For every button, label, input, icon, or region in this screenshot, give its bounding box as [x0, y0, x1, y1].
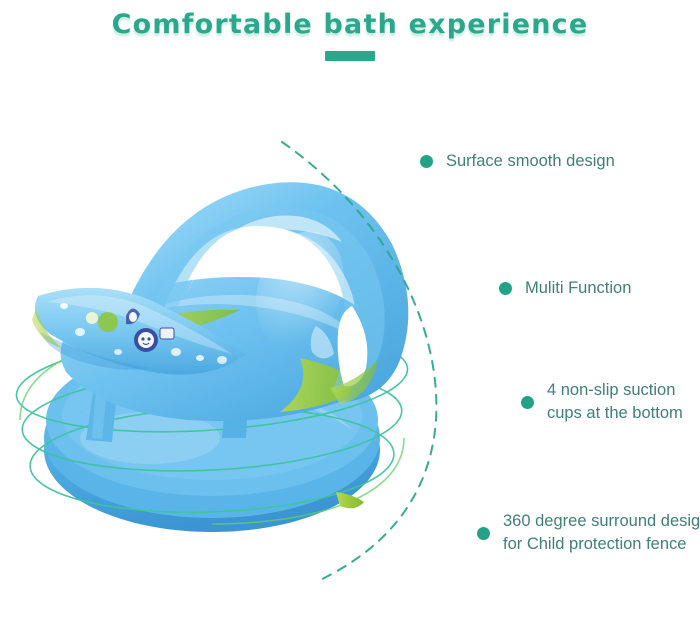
product-infographic: Comfortable bath experience: [0, 0, 700, 639]
title-underline-bar: [325, 51, 375, 61]
feature-bullet-icon: [499, 282, 512, 295]
feature-bullet-icon: [477, 527, 490, 540]
title-block: Comfortable bath experience: [0, 8, 700, 61]
feature-label: Muliti Function: [525, 277, 631, 300]
feature-surface-smooth-design: Surface smooth design: [420, 150, 615, 173]
dashed-guide-arc: [230, 120, 490, 590]
feature-muliti-function: Muliti Function: [499, 277, 631, 300]
feature-bullet-icon: [521, 396, 534, 409]
feature-bullet-icon: [420, 155, 433, 168]
feature-label: Surface smooth design: [446, 150, 615, 173]
feature-non-slip-suction-cups: 4 non-slip suction cups at the bottom: [521, 379, 683, 425]
feature-label: 360 degree surround design for Child pro…: [503, 510, 700, 556]
page-title: Comfortable bath experience: [0, 8, 700, 42]
feature-surround-protection-fence: 360 degree surround design for Child pro…: [477, 510, 700, 556]
feature-label: 4 non-slip suction cups at the bottom: [547, 379, 683, 425]
